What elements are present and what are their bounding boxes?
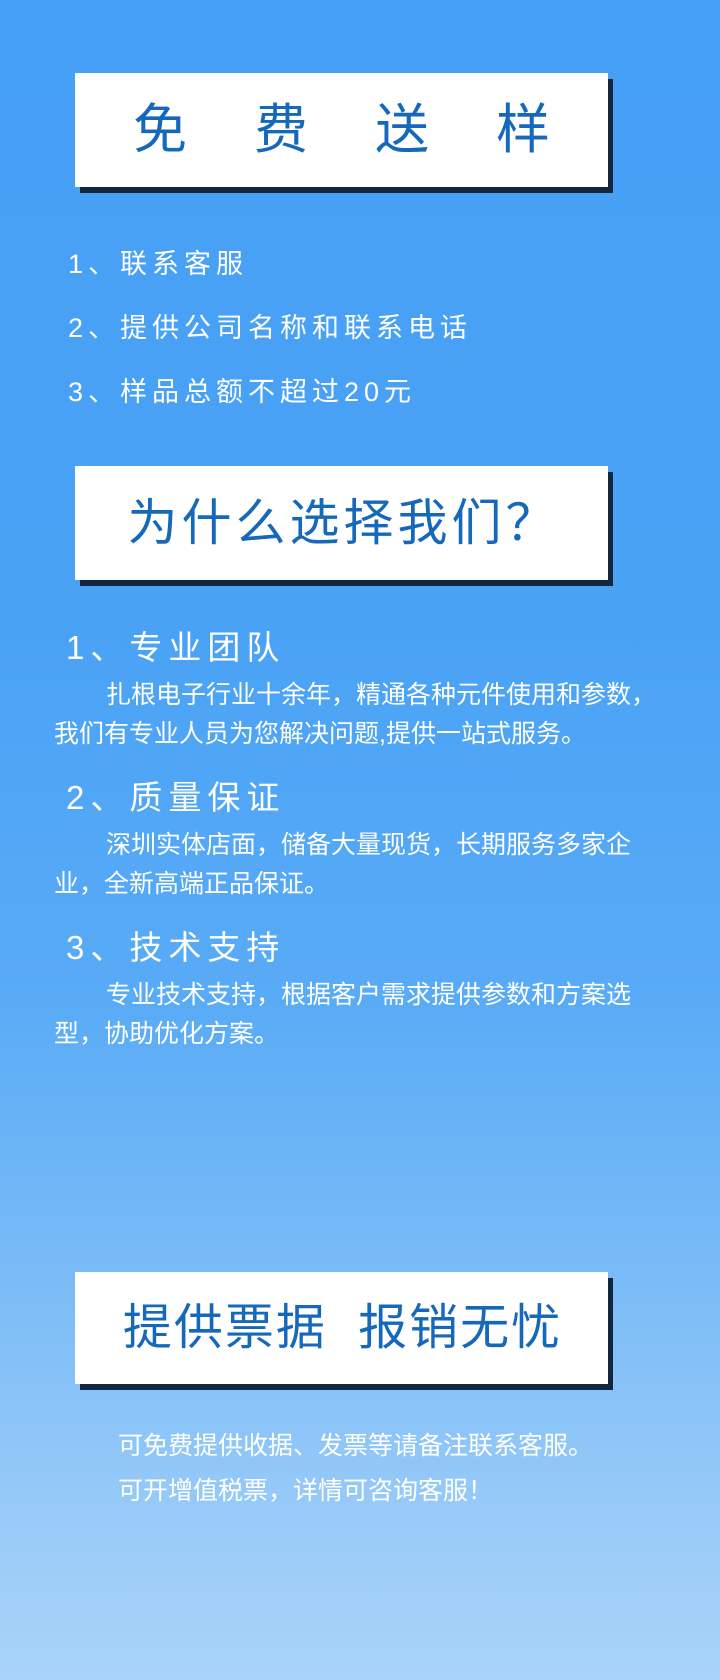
- promo-page: 免 费 送 样 1、联系客服 2、提供公司名称和联系电话 3、样品总额不超过20…: [0, 0, 720, 1680]
- feature-block: 1、专业团队 扎根电子行业十余年，精通各种元件使用和参数，我们有专业人员为您解决…: [66, 622, 676, 754]
- banner-why-us: 为什么选择我们？: [75, 466, 608, 580]
- feature-block: 3、技术支持 专业技术支持，根据客户需求提供参数和方案选型，协助优化方案。: [66, 922, 676, 1054]
- feature-body: 专业技术支持，根据客户需求提供参数和方案选型，协助优化方案。: [54, 976, 676, 1054]
- banner-invoice-text: 提供票据 报销无忧: [121, 1304, 562, 1353]
- feature-title: 3、技术支持: [66, 922, 676, 974]
- list-item: 1、联系客服: [68, 232, 668, 296]
- banner-invoice: 提供票据 报销无忧: [75, 1272, 608, 1384]
- feature-body: 深圳实体店面，储备大量现货，长期服务多家企业，全新高端正品保证。: [54, 826, 676, 904]
- banner-free-sample-text: 免 费 送 样: [107, 103, 576, 157]
- invoice-note-line: 可开增值税票，详情可咨询客服！: [66, 1469, 686, 1514]
- feature-title: 2、质量保证: [66, 772, 676, 824]
- features-section: 1、专业团队 扎根电子行业十余年，精通各种元件使用和参数，我们有专业人员为您解决…: [66, 622, 676, 1072]
- feature-block: 2、质量保证 深圳实体店面，储备大量现货，长期服务多家企业，全新高端正品保证。: [66, 772, 676, 904]
- feature-title: 1、专业团队: [66, 622, 676, 674]
- banner-why-us-text: 为什么选择我们？: [124, 498, 560, 548]
- feature-body: 扎根电子行业十余年，精通各种元件使用和参数，我们有专业人员为您解决问题,提供一站…: [54, 676, 676, 754]
- invoice-note-line: 可免费提供收据、发票等请备注联系客服。: [66, 1424, 686, 1469]
- sample-steps-list: 1、联系客服 2、提供公司名称和联系电话 3、样品总额不超过20元: [68, 232, 668, 424]
- list-item: 2、提供公司名称和联系电话: [68, 296, 668, 360]
- invoice-notes: 可免费提供收据、发票等请备注联系客服。 可开增值税票，详情可咨询客服！: [66, 1424, 686, 1514]
- banner-free-sample: 免 费 送 样: [75, 73, 608, 187]
- list-item: 3、样品总额不超过20元: [68, 360, 668, 424]
